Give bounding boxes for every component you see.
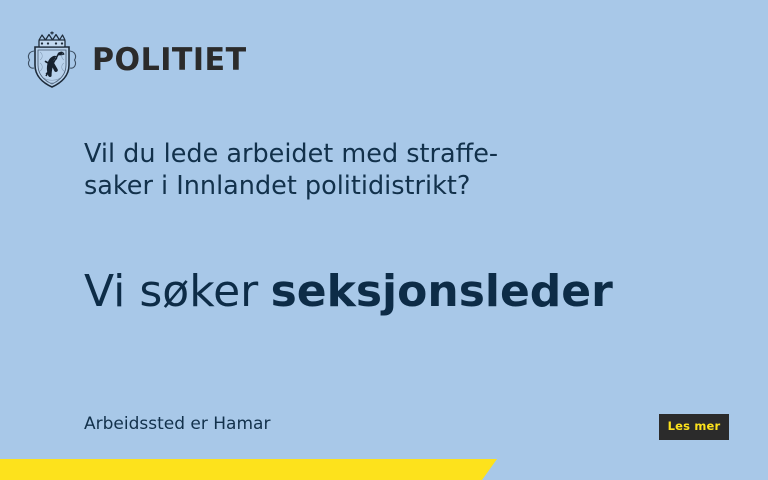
- politiet-wordmark: POLITIET: [92, 45, 247, 76]
- job-title-line: Vi søkerseksjonsleder: [84, 266, 613, 318]
- read-more-button[interactable]: Les mer: [659, 414, 729, 440]
- read-more-label: Les mer: [668, 421, 721, 433]
- recruitment-banner: POLITIET Vil du lede arbeidet med straff…: [0, 0, 768, 480]
- norwegian-coat-of-arms-lion-icon: [26, 31, 78, 89]
- politiet-logo: POLITIET: [26, 31, 251, 89]
- work-location-text: Arbeidssted er Hamar: [84, 412, 270, 436]
- role-title: seksjonsleder: [271, 266, 613, 317]
- yellow-accent-bar: [0, 459, 500, 480]
- intro-question-text: Vil du lede arbeidet med straffe- saker …: [84, 138, 644, 202]
- seeking-prefix: Vi søker: [84, 266, 258, 317]
